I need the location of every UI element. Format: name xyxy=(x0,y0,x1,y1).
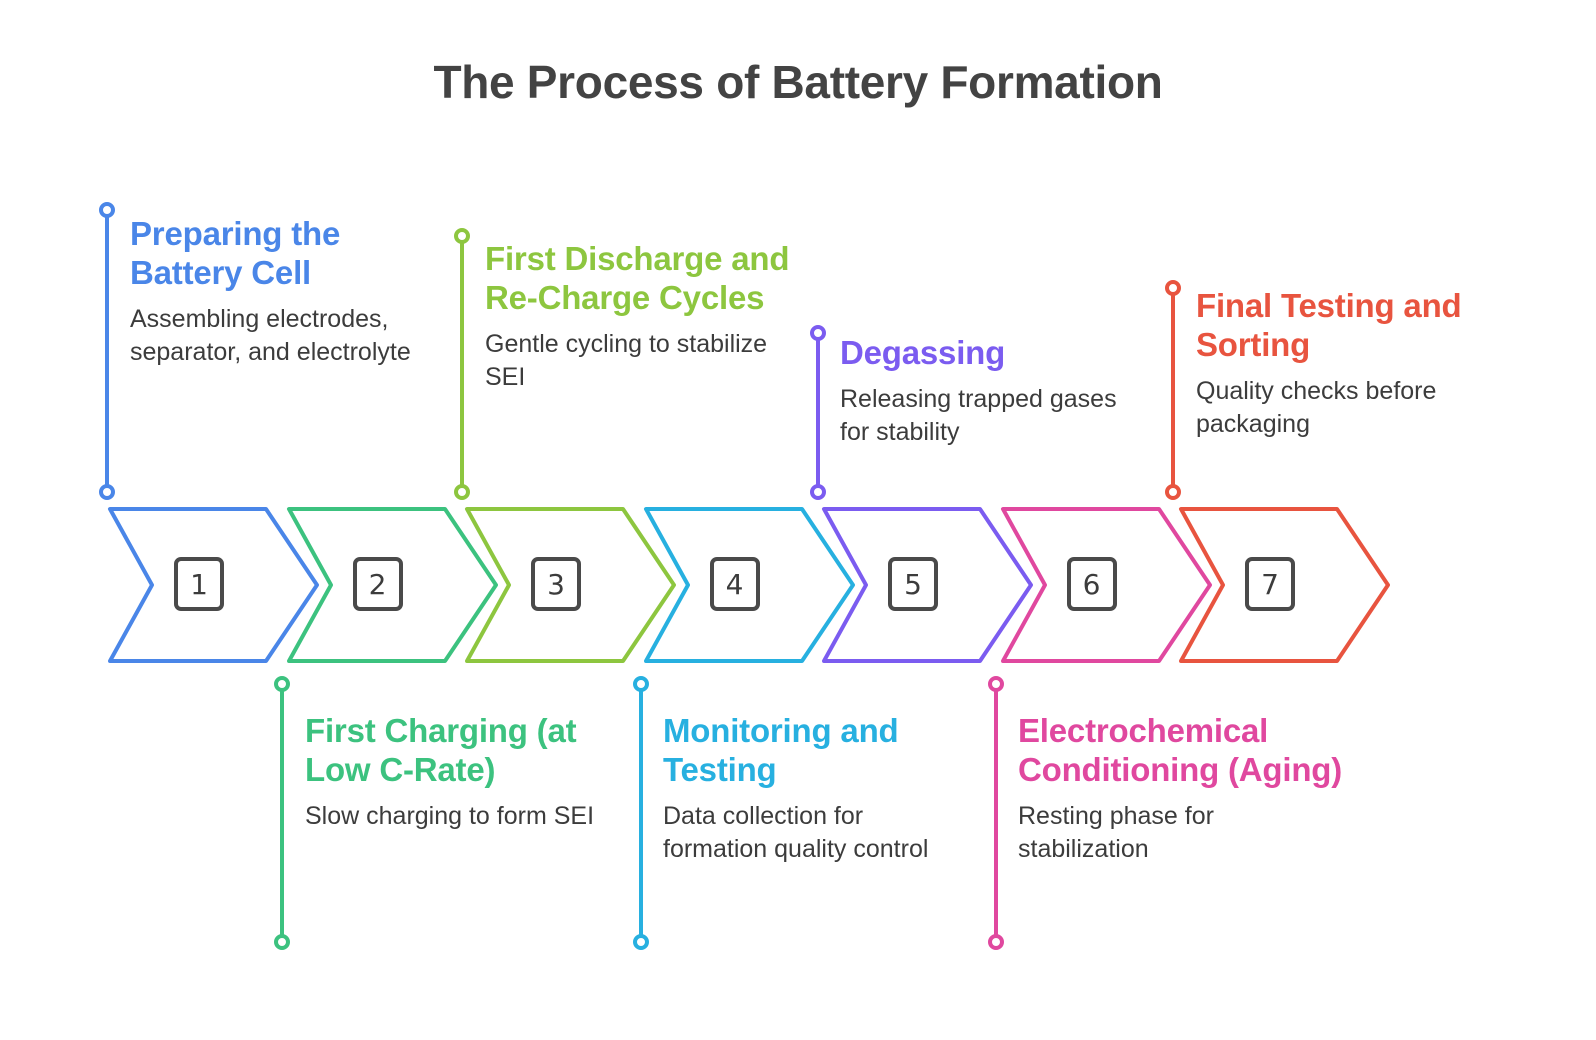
connector-endpoint-circle-icon xyxy=(274,934,290,950)
connector-line-step-1 xyxy=(99,202,115,500)
step-heading: Preparing the Battery Cell xyxy=(130,215,430,293)
connector-stem xyxy=(105,210,109,492)
step-description: Resting phase for stabilization xyxy=(1018,800,1348,867)
connector-endpoint-circle-icon xyxy=(1165,484,1181,500)
connector-line-step-4 xyxy=(633,676,649,950)
page-title: The Process of Battery Formation xyxy=(0,55,1596,109)
step-text-block-4: Monitoring and TestingData collection fo… xyxy=(663,712,963,866)
connector-stem xyxy=(639,684,643,942)
connector-endpoint-circle-icon xyxy=(988,934,1004,950)
connector-stem xyxy=(994,684,998,942)
step-description: Releasing trapped gases for stability xyxy=(840,383,1125,450)
step-description: Data collection for formation quality co… xyxy=(663,800,963,867)
step-text-block-3: First Discharge and Re-Charge CyclesGent… xyxy=(485,240,795,394)
step-number-badge: 7 xyxy=(1245,557,1295,611)
connector-endpoint-circle-icon xyxy=(99,202,115,218)
connector-endpoint-circle-icon xyxy=(454,228,470,244)
step-text-block-1: Preparing the Battery CellAssembling ele… xyxy=(130,215,430,369)
step-number-badge: 4 xyxy=(710,557,760,611)
step-text-block-2: First Charging (at Low C-Rate)Slow charg… xyxy=(305,712,605,833)
connector-endpoint-circle-icon xyxy=(99,484,115,500)
step-description: Slow charging to form SEI xyxy=(305,800,605,833)
chevron-step-7[interactable]: 7 xyxy=(1177,505,1392,665)
step-description: Quality checks before packaging xyxy=(1196,375,1476,442)
step-heading: Monitoring and Testing xyxy=(663,712,963,790)
connector-endpoint-circle-icon xyxy=(810,484,826,500)
connector-line-step-3 xyxy=(454,228,470,500)
connector-line-step-6 xyxy=(988,676,1004,950)
connector-stem xyxy=(816,333,820,492)
connector-endpoint-circle-icon xyxy=(454,484,470,500)
step-heading: First Discharge and Re-Charge Cycles xyxy=(485,240,795,318)
step-description: Assembling electrodes, separator, and el… xyxy=(130,303,430,370)
step-number-badge: 5 xyxy=(888,557,938,611)
step-heading: Final Testing and Sorting xyxy=(1196,287,1476,365)
step-heading: First Charging (at Low C-Rate) xyxy=(305,712,605,790)
connector-endpoint-circle-icon xyxy=(633,676,649,692)
connector-endpoint-circle-icon xyxy=(988,676,1004,692)
connector-stem xyxy=(280,684,284,942)
step-number-badge: 2 xyxy=(353,557,403,611)
step-description: Gentle cycling to stabilize SEI xyxy=(485,328,795,395)
step-text-block-5: DegassingReleasing trapped gases for sta… xyxy=(840,334,1125,449)
step-text-block-6: Electrochemical Conditioning (Aging)Rest… xyxy=(1018,712,1348,866)
connector-endpoint-circle-icon xyxy=(274,676,290,692)
step-heading: Degassing xyxy=(840,334,1125,373)
step-number-badge: 6 xyxy=(1067,557,1117,611)
step-text-block-7: Final Testing and SortingQuality checks … xyxy=(1196,287,1476,441)
connector-endpoint-circle-icon xyxy=(633,934,649,950)
chevron-strip: 1234567 xyxy=(0,505,1596,670)
step-number-badge: 3 xyxy=(531,557,581,611)
connector-line-step-7 xyxy=(1165,280,1181,500)
connector-line-step-5 xyxy=(810,325,826,500)
connector-line-step-2 xyxy=(274,676,290,950)
connector-stem xyxy=(460,236,464,492)
connector-stem xyxy=(1171,288,1175,492)
step-heading: Electrochemical Conditioning (Aging) xyxy=(1018,712,1348,790)
connector-endpoint-circle-icon xyxy=(1165,280,1181,296)
step-number-badge: 1 xyxy=(174,557,224,611)
connector-endpoint-circle-icon xyxy=(810,325,826,341)
